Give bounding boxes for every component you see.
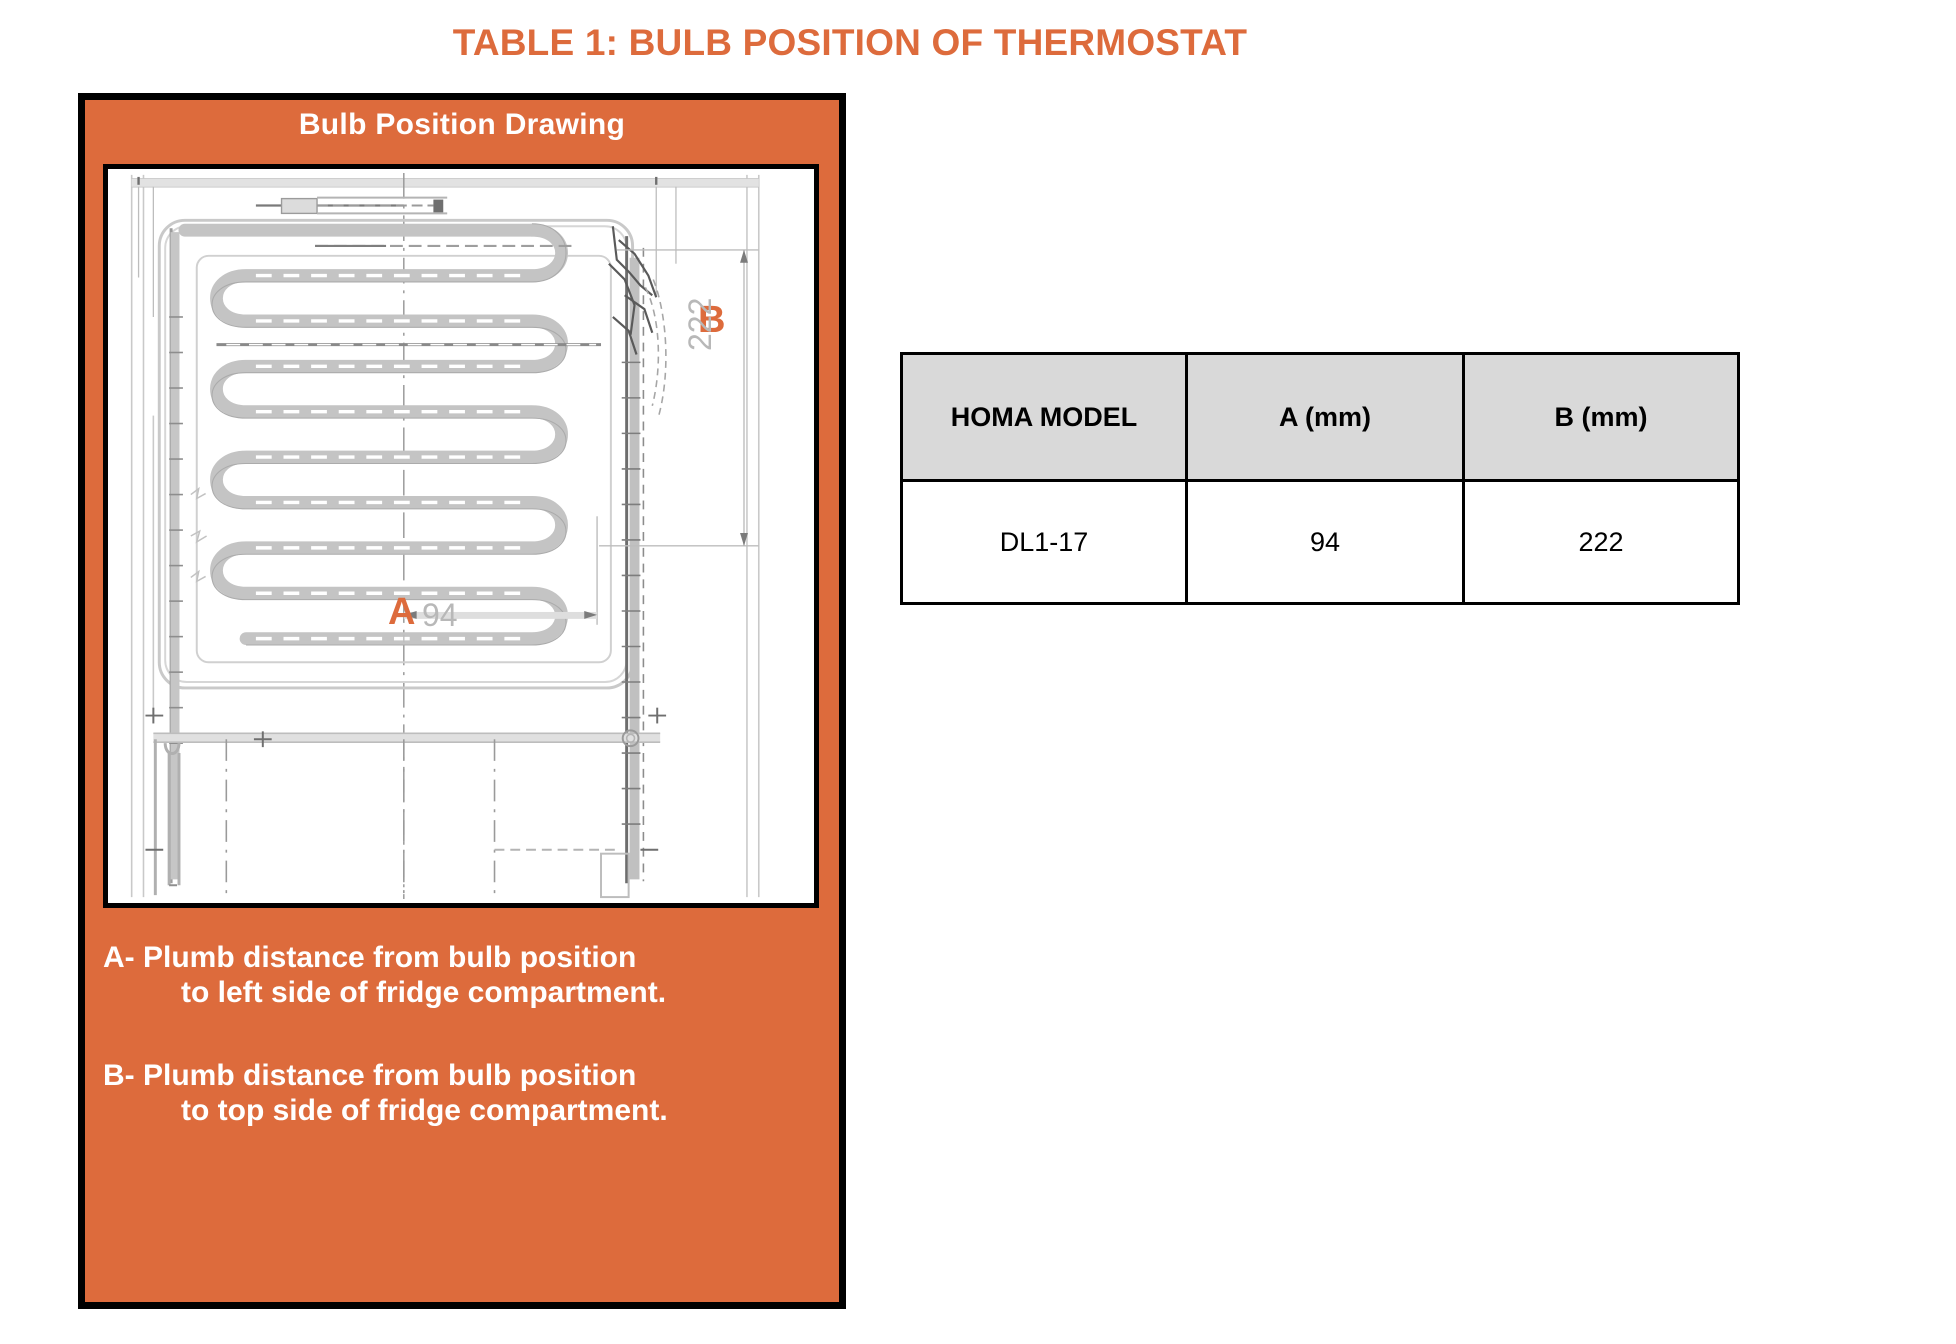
legend-item-b-line1: B- Plumb distance from bulb position [127, 1058, 827, 1093]
table-header-homa-model: HOMA MODEL [902, 354, 1187, 481]
bulb-position-drawing: B 222 A 94 [103, 164, 819, 908]
panel-header-title: Bulb Position Drawing [85, 108, 839, 142]
cell-a-value: 94 [1187, 481, 1464, 604]
table-row: DL1-17 94 222 [902, 481, 1739, 604]
cell-model: DL1-17 [902, 481, 1187, 604]
bulb-position-panel: Bulb Position Drawing [78, 93, 846, 1309]
table-header-a-mm: A (mm) [1187, 354, 1464, 481]
bulb-position-table: HOMA MODEL A (mm) B (mm) DL1-17 94 222 [900, 352, 1740, 605]
dimension-a-value: 94 [422, 599, 458, 631]
table-header-b-mm: B (mm) [1464, 354, 1739, 481]
cell-b-value: 222 [1464, 481, 1739, 604]
legend: A- Plumb distance from bulb position to … [103, 940, 827, 1128]
legend-item-a: A- Plumb distance from bulb position to … [103, 940, 827, 1010]
legend-item-b: B- Plumb distance from bulb position to … [103, 1058, 827, 1128]
page-title: TABLE 1: BULB POSITION OF THERMOSTAT [0, 22, 1700, 64]
legend-item-a-line1: A- Plumb distance from bulb position [127, 940, 827, 975]
legend-item-b-line2: to top side of fridge compartment. [127, 1093, 827, 1128]
evaporator-coil-schematic [108, 169, 814, 903]
legend-item-a-line2: to left side of fridge compartment. [127, 975, 827, 1010]
dimension-b-value: 222 [684, 298, 716, 351]
table-header-row: HOMA MODEL A (mm) B (mm) [902, 354, 1739, 481]
dimension-a-letter: A [388, 593, 415, 631]
